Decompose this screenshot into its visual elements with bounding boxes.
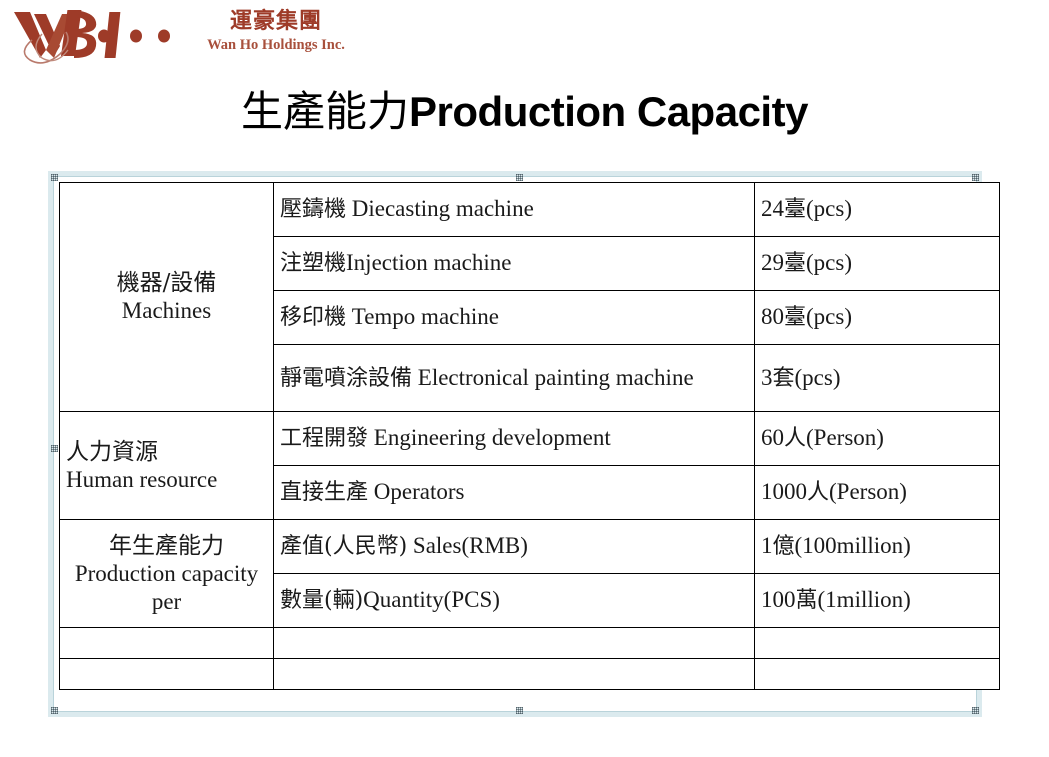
value-unit-english: (pcs) [806,304,852,329]
value-unit-english: (pcs) [795,365,841,390]
category-chinese: 年生產能力 [66,532,267,560]
table-row-empty[interactable] [60,628,1000,659]
value-unit-chinese: 套 [773,366,795,391]
table-row[interactable]: 年生產能力 Production capacity per 產值(人民幣) Sa… [60,520,1000,574]
page-title-english: Production Capacity [409,88,808,135]
item-chinese: 靜電噴涂設備 [280,366,412,391]
item-english: Sales(RMB) [407,533,528,558]
item-chinese: 壓鑄機 [280,197,346,222]
value-number: 3 [761,365,773,390]
item-english: Injection machine [346,250,511,275]
value-unit-english: (Person) [806,425,884,450]
value-number: 100 [761,587,796,612]
item-english: Quantity(PCS) [363,587,500,612]
item-chinese: 移印機 [280,305,346,330]
value-unit-chinese: 臺 [784,251,806,276]
item-english: Diecasting machine [346,196,534,221]
resize-handle-top-right[interactable] [972,174,979,181]
category-english: Machines [66,297,267,325]
category-english: Human resource [66,466,267,494]
value-cell[interactable]: 24臺(pcs) [755,183,1000,237]
item-cell[interactable]: 靜電噴涂設備 Electronical painting machine [274,345,755,412]
category-cell-machines[interactable]: 機器/設備 Machines [60,183,274,412]
value-unit-english: (pcs) [806,250,852,275]
value-unit-english: (Person) [829,479,907,504]
table-selection-frame[interactable]: 機器/設備 Machines 壓鑄機 Diecasting machine 24… [48,171,982,717]
value-unit-english: (pcs) [806,196,852,221]
value-unit-english: (1million) [818,587,911,612]
production-capacity-table[interactable]: 機器/設備 Machines 壓鑄機 Diecasting machine 24… [59,182,1000,690]
logo-chinese-name: 運豪集團 [190,8,362,34]
value-number: 29 [761,250,784,275]
resize-handle-bottom-right[interactable] [972,707,979,714]
item-english: Engineering development [368,425,611,450]
item-cell[interactable]: 移印機 Tempo machine [274,291,755,345]
value-unit-chinese: 臺 [784,197,806,222]
empty-cell[interactable] [60,628,274,659]
category-chinese: 人力資源 [66,438,267,466]
item-cell[interactable]: 壓鑄機 Diecasting machine [274,183,755,237]
empty-cell[interactable] [755,628,1000,659]
value-cell[interactable]: 29臺(pcs) [755,237,1000,291]
resize-handle-bottom-left[interactable] [51,707,58,714]
value-cell[interactable]: 80臺(pcs) [755,291,1000,345]
item-cell[interactable]: 直接生產 Operators [274,466,755,520]
value-cell[interactable]: 100萬(1million) [755,574,1000,628]
resize-handle-top-center[interactable] [516,174,523,181]
page-title: 生產能力Production Capacity [0,86,1049,139]
table-row[interactable]: 人力資源 Human resource 工程開發 Engineering dev… [60,412,1000,466]
resize-handle-bottom-center[interactable] [516,707,523,714]
value-number: 24 [761,196,784,221]
item-english: Tempo machine [346,304,499,329]
table-row[interactable]: 機器/設備 Machines 壓鑄機 Diecasting machine 24… [60,183,1000,237]
value-unit-chinese: 萬 [796,588,818,613]
empty-cell[interactable] [274,659,755,690]
value-unit-chinese: 臺 [784,305,806,330]
resize-handle-top-left[interactable] [51,174,58,181]
category-cell-production-capacity[interactable]: 年生產能力 Production capacity per [60,520,274,628]
page-title-chinese: 生產能力 [241,87,409,136]
item-chinese: 注塑機 [280,251,346,276]
wh-monogram-icon [12,6,184,66]
category-english: Production capacity per [66,560,267,616]
value-number: 1000 [761,479,807,504]
value-number: 1 [761,533,773,558]
value-unit-chinese: 億 [773,534,795,559]
value-unit-english: (100million) [795,533,911,558]
value-cell[interactable]: 1億(100million) [755,520,1000,574]
empty-cell[interactable] [60,659,274,690]
resize-handle-middle-left[interactable] [51,445,58,452]
item-chinese: 產值(人民幣) [280,534,407,559]
value-number: 60 [761,425,784,450]
item-cell[interactable]: 注塑機Injection machine [274,237,755,291]
item-cell[interactable]: 產值(人民幣) Sales(RMB) [274,520,755,574]
item-cell[interactable]: 數量(輛)Quantity(PCS) [274,574,755,628]
value-unit-chinese: 人 [807,480,829,505]
item-chinese: 數量(輛) [280,588,363,613]
table-row-empty[interactable] [60,659,1000,690]
item-cell[interactable]: 工程開發 Engineering development [274,412,755,466]
value-cell[interactable]: 1000人(Person) [755,466,1000,520]
empty-cell[interactable] [755,659,1000,690]
value-cell[interactable]: 60人(Person) [755,412,1000,466]
value-cell[interactable]: 3套(pcs) [755,345,1000,412]
value-number: 80 [761,304,784,329]
empty-cell[interactable] [274,628,755,659]
item-chinese: 直接生產 [280,480,368,505]
value-unit-chinese: 人 [784,426,806,451]
item-english: Electronical painting machine [412,365,694,390]
logo-english-name: Wan Ho Holdings Inc. [190,36,362,54]
logo-text: 運豪集團 Wan Ho Holdings Inc. [190,8,362,54]
category-cell-human-resource[interactable]: 人力資源 Human resource [60,412,274,520]
category-chinese: 機器/設備 [66,269,267,297]
company-logo: 運豪集團 Wan Ho Holdings Inc. [8,2,368,68]
item-chinese: 工程開發 [280,426,368,451]
item-english: Operators [368,479,464,504]
